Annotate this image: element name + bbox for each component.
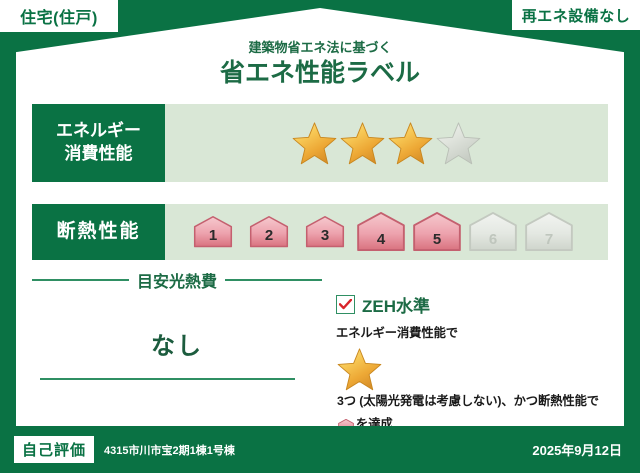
energy-label-line2: 消費性能 xyxy=(65,143,133,166)
utility-cost-section: 目安光熱費 なし xyxy=(32,268,322,418)
energy-star-panel xyxy=(165,104,608,182)
insulation-level-number: 4 xyxy=(355,231,407,248)
footer-bar: 自己評価 4315市川市宝2期1棟1号棟 2025年9月12日 xyxy=(0,426,640,473)
insulation-level-number: 1 xyxy=(187,227,239,244)
star-empty-icon xyxy=(435,121,482,166)
insulation-level-number: 6 xyxy=(467,231,519,248)
insulation-level-3: 3 xyxy=(299,216,351,248)
energy-performance-row: エネルギー 消費性能 xyxy=(32,104,608,182)
insulation-level-number: 5 xyxy=(411,231,463,248)
label-subtitle: 建築物省エネ法に基づく xyxy=(0,40,640,57)
check-icon xyxy=(339,299,352,310)
star-filled-icon xyxy=(339,121,386,166)
zeh-desc-part1: エネルギー消費性能で xyxy=(336,326,458,340)
star-filled-icon xyxy=(387,121,434,166)
insulation-label-block: 断熱性能 xyxy=(32,204,165,260)
zeh-description: エネルギー消費性能で3つ (太陽光発電は考慮しない)、かつ断熱性能で5を達成 xyxy=(336,324,608,439)
utility-cost-heading-text: 目安光熱費 xyxy=(137,268,217,292)
zeh-section: ZEH水準 エネルギー消費性能で3つ (太陽光発電は考慮しない)、かつ断熱性能で… xyxy=(322,268,608,418)
title-block: 建築物省エネ法に基づく 省エネ性能ラベル xyxy=(0,40,640,89)
rule-right xyxy=(225,279,322,281)
energy-performance-label: 住宅(住戸) 再エネ設備なし 建築物省エネ法に基づく 省エネ性能ラベル エネルギ… xyxy=(0,0,640,473)
insulation-scale-panel: 1234567 xyxy=(165,204,608,260)
insulation-level-number: 7 xyxy=(523,231,575,248)
zeh-heading: ZEH水準 xyxy=(336,292,608,317)
insulation-level-6: 6 xyxy=(467,212,519,252)
zeh-title: ZEH水準 xyxy=(362,292,430,317)
insulation-level-2: 2 xyxy=(243,216,295,248)
issue-date: 2025年9月12日 xyxy=(532,440,622,459)
utility-cost-value: なし xyxy=(32,326,322,361)
insulation-level-4: 4 xyxy=(355,212,407,252)
lower-section: 目安光熱費 なし ZEH水準 エネルギー消費性能で3つ (太陽光発電は考慮しない… xyxy=(32,268,608,418)
zeh-desc-part3: は考慮しない)、かつ断熱性能で xyxy=(424,394,599,408)
rule-left xyxy=(32,279,129,281)
star-filled-icon xyxy=(336,347,383,392)
insulation-level-7: 7 xyxy=(523,212,575,252)
utility-cost-heading: 目安光熱費 xyxy=(32,268,322,292)
zeh-desc-part2: 3つ (太陽光発電 xyxy=(337,394,424,408)
zeh-checkbox[interactable] xyxy=(336,295,355,314)
building-name: 4315市川市宝2期1棟1号棟 xyxy=(104,442,532,458)
inline-star-icon xyxy=(336,347,608,392)
insulation-level-5: 5 xyxy=(411,212,463,252)
page-title: 省エネ性能ラベル xyxy=(0,58,640,89)
energy-performance-label-block: エネルギー 消費性能 xyxy=(32,104,165,182)
badge-building-type: 住宅(住戸) xyxy=(0,0,118,32)
energy-label-line1: エネルギー xyxy=(56,120,141,143)
section-divider xyxy=(40,378,295,380)
insulation-performance-row: 断熱性能 1234567 xyxy=(32,204,608,260)
evaluation-badge: 自己評価 xyxy=(14,436,94,463)
insulation-level-number: 2 xyxy=(243,227,295,244)
badge-renewable-equipment: 再エネ設備なし xyxy=(512,0,640,30)
star-filled-icon xyxy=(291,121,338,166)
insulation-level-1: 1 xyxy=(187,216,239,248)
insulation-level-number: 3 xyxy=(299,227,351,244)
